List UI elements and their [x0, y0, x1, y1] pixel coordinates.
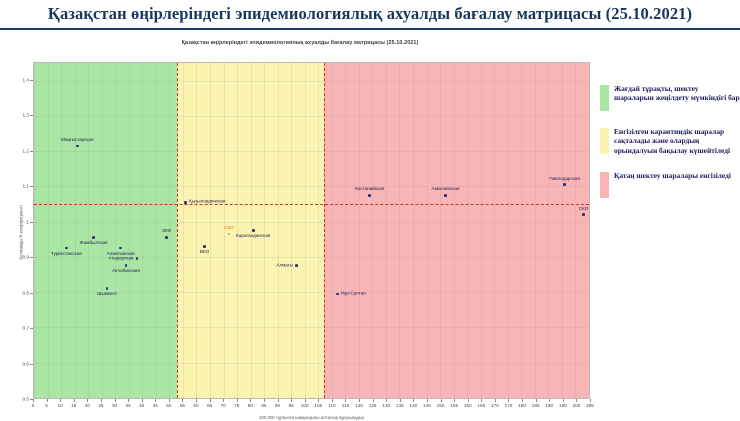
x-axis-tick [508, 399, 509, 402]
y-axis-tick [30, 80, 33, 81]
gridline-vertical [237, 63, 238, 398]
threshold-line-yellow-red [324, 63, 325, 398]
gridline-vertical [75, 63, 76, 398]
data-point-label: Туркестанская [51, 252, 82, 257]
gridline-vertical [359, 63, 360, 398]
x-axis-tick [60, 399, 61, 402]
x-axis-tick [427, 399, 428, 402]
gridline-vertical [454, 63, 455, 398]
data-point-label: Костанайская [355, 187, 384, 192]
page-header: Қазақстан өңірлеріндегі эпидемиологиялық… [0, 0, 740, 30]
chart-title: Қазақстан өңірлеріндегі эпидемиологиялық… [0, 40, 600, 46]
legend-label: Қатаң шектеу шаралары енгізіледі [614, 171, 731, 180]
y-axis-tick-label: 0.5 [22, 397, 29, 402]
x-axis-tick-label: 150 [437, 403, 445, 408]
x-axis-tick-label: 30 [112, 403, 117, 408]
x-axis-tick-label: 50 [166, 403, 171, 408]
page-title: Қазақстан өңірлеріндегі эпидемиологиялық… [48, 4, 692, 24]
gridline-horizontal [34, 363, 589, 364]
x-axis-tick-label: 70 [221, 403, 226, 408]
gridline-vertical [61, 63, 62, 398]
data-point-label: Қызылординская [189, 200, 225, 205]
x-axis: 0510152025303540455055606570758085909510… [33, 399, 590, 413]
x-axis-tick [142, 399, 143, 402]
gridline-horizontal [34, 116, 589, 117]
x-axis-tick [495, 399, 496, 402]
x-axis-tick [47, 399, 48, 402]
x-axis-tick-label: 170 [491, 403, 499, 408]
y-axis-title: Болжамды R-коэффициенті [19, 158, 24, 308]
legend-color-swatch [600, 85, 609, 111]
x-axis-tick [386, 399, 387, 402]
data-point-label: Карагандинская [236, 234, 270, 239]
y-axis-tick-label: 1 [26, 219, 29, 224]
y-axis-tick-label: 1.2 [22, 148, 29, 153]
x-axis-tick [33, 399, 34, 402]
gridline-vertical [399, 63, 400, 398]
legend-item: Жағдай тұрақты, шектеу шараларын жеңілде… [600, 84, 740, 111]
x-axis-tick-label: 85 [261, 403, 266, 408]
data-point-label: СКО [224, 226, 234, 231]
x-axis-tick-label: 190 [545, 403, 553, 408]
y-axis-tick [30, 186, 33, 187]
x-axis-tick [359, 399, 360, 402]
x-axis-tick [305, 399, 306, 402]
data-point-label: Маңғыстауская [61, 138, 94, 143]
x-axis-tick [563, 399, 564, 402]
x-axis-tick-label: 180 [518, 403, 526, 408]
gridline-vertical [575, 63, 576, 398]
x-axis-tick-label: 95 [289, 403, 294, 408]
gridline-horizontal [34, 222, 589, 223]
x-axis-tick-label: 25 [98, 403, 103, 408]
x-axis-tick-label: 80 [248, 403, 253, 408]
x-axis-tick-label: 185 [532, 403, 540, 408]
gridline-vertical [521, 63, 522, 398]
y-axis-tick [30, 115, 33, 116]
gridline-vertical [372, 63, 373, 398]
x-axis-tick [400, 399, 401, 402]
gridline-vertical [183, 63, 184, 398]
gridline-vertical [264, 63, 265, 398]
gridline-vertical [386, 63, 387, 398]
y-axis-tick-label: 1.4 [22, 77, 29, 82]
y-axis-tick-label: 0.9 [22, 255, 29, 260]
x-axis-tick-label: 35 [125, 403, 130, 408]
x-axis-tick [278, 399, 279, 402]
x-axis-tick [590, 399, 591, 402]
y-axis-tick [30, 328, 33, 329]
x-axis-tick-label: 40 [139, 403, 144, 408]
data-point-label: Шымкент [97, 292, 117, 297]
x-axis-tick-label: 20 [85, 403, 90, 408]
data-point-label: Акмолинская [432, 187, 460, 192]
gridline-vertical [332, 63, 333, 398]
x-axis-tick [481, 399, 482, 402]
x-axis-tick [155, 399, 156, 402]
gridline-vertical [291, 63, 292, 398]
x-axis-tick-label: 15 [71, 403, 76, 408]
gridline-vertical [102, 63, 103, 398]
gridline-vertical [129, 63, 130, 398]
legend-label: Енгізілген карантиндік шаралар сақталады… [614, 127, 740, 155]
gridline-vertical [467, 63, 468, 398]
gridline-vertical [345, 63, 346, 398]
y-axis-tick-label: 0.7 [22, 326, 29, 331]
x-axis-tick [196, 399, 197, 402]
gridline-horizontal [34, 81, 589, 82]
x-axis-tick-label: 145 [423, 403, 431, 408]
x-axis-tick-label: 100 [301, 403, 309, 408]
y-axis: Болжамды R-коэффициенті 1.41.31.21.110.9… [12, 62, 33, 399]
data-point-label: Алматы [276, 263, 293, 268]
x-axis-tick [536, 399, 537, 402]
gridline-horizontal [34, 327, 589, 328]
gridline-vertical [196, 63, 197, 398]
data-point-label: Атырауская [108, 256, 133, 261]
x-axis-tick [169, 399, 170, 402]
x-axis-tick [128, 399, 129, 402]
gridline-vertical [494, 63, 495, 398]
gridline-vertical [589, 63, 590, 398]
y-axis-tick-label: 1.1 [22, 184, 29, 189]
y-axis-tick [30, 364, 33, 365]
x-axis-tick-label: 115 [342, 403, 349, 408]
threshold-line-green-yellow [177, 63, 178, 398]
gridline-vertical [115, 63, 116, 398]
x-axis-tick [318, 399, 319, 402]
x-axis-tick-label: 135 [396, 403, 404, 408]
x-axis-tick [345, 399, 346, 402]
gridline-horizontal [34, 292, 589, 293]
gridline-vertical [318, 63, 319, 398]
gridline-vertical [562, 63, 563, 398]
x-axis-tick-label: 75 [234, 403, 239, 408]
x-axis-tick-label: 175 [505, 403, 513, 408]
y-axis-tick [30, 293, 33, 294]
x-axis-tick-label: 105 [314, 403, 322, 408]
data-point-label: ВКО [200, 250, 209, 255]
gridline-vertical [508, 63, 509, 398]
x-axis-tick-label: 205 [586, 403, 594, 408]
data-point-label: Жамбылская [80, 241, 108, 246]
x-axis-tick-label: 130 [382, 403, 390, 408]
x-axis-tick-label: 45 [153, 403, 158, 408]
data-point-label: ЗКО [162, 229, 171, 234]
x-axis-tick-label: 10 [58, 403, 63, 408]
x-axis-tick [210, 399, 211, 402]
gridline-vertical [535, 63, 536, 398]
data-point-label: Павлодарская [549, 177, 580, 182]
x-axis-tick-label: 55 [180, 403, 185, 408]
gridline-vertical [481, 63, 482, 398]
gridline-vertical [88, 63, 89, 398]
gridline-vertical [548, 63, 549, 398]
x-axis-tick-label: 110 [328, 403, 335, 408]
gridline-vertical [142, 63, 143, 398]
x-axis-tick-label: 5 [45, 403, 48, 408]
x-axis-tick-label: 155 [450, 403, 458, 408]
x-axis-title: 100 000 тұрғынға шаққандағы апталық ауру… [33, 415, 590, 420]
x-axis-tick [454, 399, 455, 402]
gridline-vertical [440, 63, 441, 398]
gridline-vertical [34, 63, 35, 398]
x-axis-tick-label: 195 [559, 403, 567, 408]
legend-item: Енгізілген карантиндік шаралар сақталады… [600, 127, 740, 155]
y-axis-tick [30, 399, 33, 400]
data-point-label: Актюбинская [112, 269, 140, 274]
legend-item: Қатаң шектеу шаралары енгізіледі [600, 171, 740, 198]
x-axis-tick [291, 399, 292, 402]
data-point-label: СКО [579, 207, 589, 212]
x-axis-tick [115, 399, 116, 402]
x-axis-tick-label: 125 [369, 403, 377, 408]
x-axis-tick-label: 90 [275, 403, 280, 408]
gridline-vertical [48, 63, 49, 398]
plot-area: МаңғыстаускаяҚызылординскаяЗКОВКОСКОКара… [33, 62, 590, 399]
x-axis-tick [468, 399, 469, 402]
x-axis-tick [74, 399, 75, 402]
legend-color-swatch [600, 172, 609, 198]
data-point-label: Нұр-Сұлтан [341, 292, 366, 297]
x-axis-tick [87, 399, 88, 402]
gridline-vertical [427, 63, 428, 398]
y-axis-tick [30, 257, 33, 258]
threshold-line-r-coefficient [34, 204, 589, 205]
y-axis-tick-label: 1.3 [22, 113, 29, 118]
x-axis-tick [413, 399, 414, 402]
x-axis-tick-label: 60 [193, 403, 198, 408]
x-axis-tick-label: 140 [409, 403, 417, 408]
x-axis-tick [250, 399, 251, 402]
legend: Жағдай тұрақты, шектеу шараларын жеңілде… [600, 84, 740, 214]
x-axis-tick [332, 399, 333, 402]
y-axis-tick [30, 151, 33, 152]
gridline-vertical [413, 63, 414, 398]
x-axis-tick [576, 399, 577, 402]
legend-color-swatch [600, 128, 609, 154]
y-axis-tick-label: 0.6 [22, 361, 29, 366]
y-axis-tick [30, 222, 33, 223]
gridline-horizontal [34, 151, 589, 152]
x-axis-tick-label: 65 [207, 403, 212, 408]
gridline-horizontal [34, 186, 589, 187]
x-axis-tick [549, 399, 550, 402]
x-axis-tick-label: 120 [355, 403, 363, 408]
legend-label: Жағдай тұрақты, шектеу шараларын жеңілде… [614, 84, 740, 103]
x-axis-tick [223, 399, 224, 402]
x-axis-tick [101, 399, 102, 402]
chart-container: Қазақстан өңірлеріндегі эпидемиологиялық… [0, 32, 740, 421]
gridline-vertical [305, 63, 306, 398]
x-axis-tick-label: 0 [32, 403, 35, 408]
x-axis-tick-label: 165 [477, 403, 485, 408]
x-axis-tick [237, 399, 238, 402]
x-axis-tick [522, 399, 523, 402]
gridline-vertical [156, 63, 157, 398]
x-axis-tick-label: 160 [464, 403, 472, 408]
gridline-vertical [278, 63, 279, 398]
x-axis-tick [264, 399, 265, 402]
y-axis-tick-label: 0.8 [22, 290, 29, 295]
x-axis-tick [441, 399, 442, 402]
x-axis-tick [182, 399, 183, 402]
gridline-vertical [210, 63, 211, 398]
x-axis-tick [373, 399, 374, 402]
x-axis-tick-label: 200 [572, 403, 580, 408]
